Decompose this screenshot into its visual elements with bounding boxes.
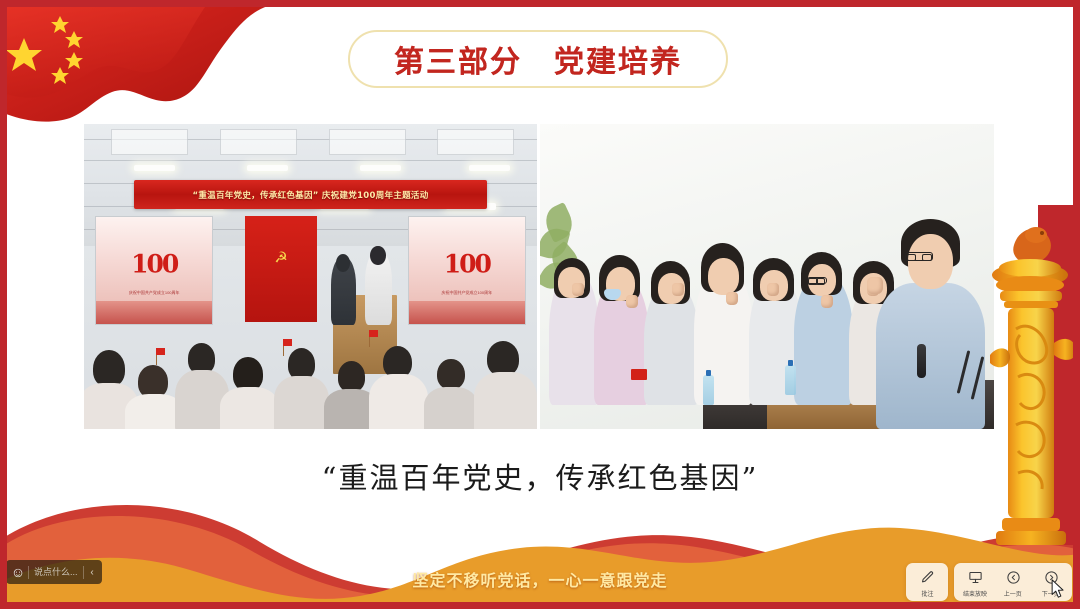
next-page-button[interactable]: 下一页 <box>1032 567 1070 599</box>
annotate-button[interactable]: 批注 <box>908 567 946 599</box>
water-bottle <box>703 375 714 405</box>
hammer-sickle-icon: ☭ <box>274 251 287 266</box>
mini-flag <box>631 369 647 380</box>
conference-room-photo: “重温百年党史，传承红色基因” 庆祝建党100周年主题活动 100 庆祝中国共产… <box>84 124 537 429</box>
chat-input-bar[interactable]: ☺ ‹ <box>6 560 102 584</box>
emoji-icon[interactable]: ☺ <box>8 562 28 582</box>
section-title-capsule: 第三部分 党建培养 <box>348 30 728 88</box>
event-banner: “重温百年党史，传承红色基因” 庆祝建党100周年主题活动 <box>134 180 487 209</box>
end-show-button[interactable]: 结束放映 <box>956 567 994 599</box>
prev-page-button[interactable]: 上一页 <box>994 567 1032 599</box>
chevron-left-circle-icon <box>1005 569 1022 586</box>
water-bottle <box>785 365 796 395</box>
screen-logo-right: 100 <box>444 249 490 278</box>
huabiao-pillar <box>984 205 1076 545</box>
mini-flag <box>156 348 165 355</box>
prev-page-label: 上一页 <box>1004 588 1022 597</box>
chat-input[interactable] <box>29 567 83 577</box>
mini-flag <box>283 339 292 346</box>
presentation-slide: 第三部分 党建培养 <box>0 0 1080 609</box>
microphone <box>917 344 926 378</box>
pencil-icon <box>919 569 936 586</box>
presentation-toolbar: 批注 结束放映 上一页 <box>906 563 1072 601</box>
navigation-group: 结束放映 上一页 下一页 <box>954 563 1072 601</box>
next-page-label: 下一页 <box>1042 588 1060 597</box>
china-flag <box>0 0 268 128</box>
anniversary-screen-right: 100 庆祝中国共产党成立100周年 <box>408 216 526 326</box>
screen-caption-right: 庆祝中国共产党成立100周年 <box>441 290 492 296</box>
photo-band: “重温百年党史，传承红色基因” 庆祝建党100周年主题活动 100 庆祝中国共产… <box>84 124 994 429</box>
annotate-label: 批注 <box>921 588 933 597</box>
end-show-label: 结束放映 <box>963 588 987 597</box>
chevron-right-circle-icon <box>1043 569 1060 586</box>
screen-caption-left: 庆祝中国共产党成立100周年 <box>129 290 180 296</box>
audience <box>84 319 537 429</box>
annotate-group: 批注 <box>906 563 948 601</box>
projector-icon <box>967 569 984 586</box>
banner-text: “重温百年党史，传承红色基因” 庆祝建党100周年主题活动 <box>192 189 428 201</box>
oath-ceremony-photo <box>540 124 994 429</box>
party-flag: ☭ <box>245 216 317 323</box>
collapse-chevron-left-icon[interactable]: ‹ <box>84 562 100 582</box>
page-title: 第三部分 党建培养 <box>394 37 682 81</box>
mini-flag <box>369 330 378 337</box>
anniversary-screen-left: 100 庆祝中国共产党成立100周年 <box>95 216 213 326</box>
screen-logo-left: 100 <box>131 249 177 278</box>
